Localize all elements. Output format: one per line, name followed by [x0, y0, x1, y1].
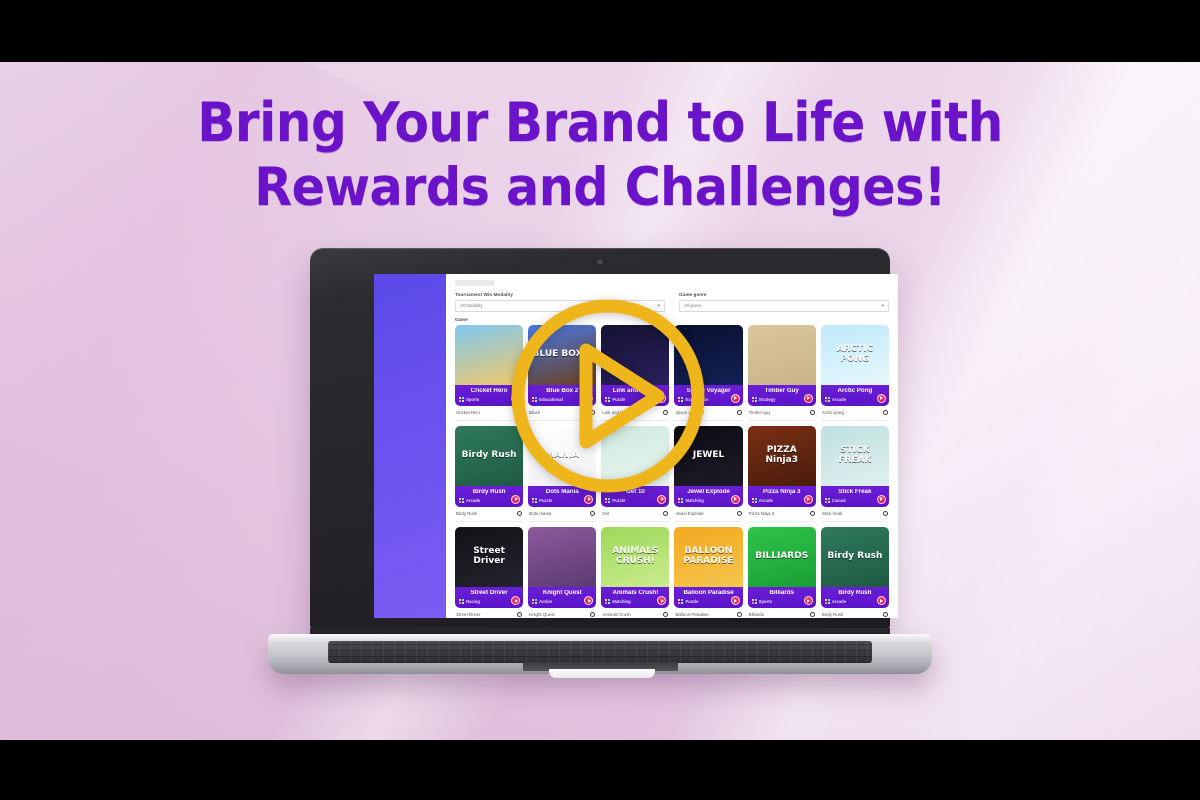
gear-icon[interactable]	[810, 511, 815, 516]
game-genre-row: Arcade	[752, 498, 812, 503]
play-circle-icon[interactable]	[731, 394, 740, 403]
game-caption-row: Arctic pong	[821, 406, 889, 421]
game-caption-row: Street Driver	[455, 608, 523, 618]
game-art-text: BALLOON PARADISE	[674, 547, 742, 566]
game-genre-label: Puzzle	[539, 498, 552, 503]
filter-label: Game genre	[679, 292, 889, 297]
game-genre-row: Sports	[752, 599, 812, 604]
genre-grid-icon	[825, 498, 830, 503]
game-thumbnail: BILLIARDS	[748, 527, 816, 587]
play-circle-icon[interactable]	[804, 596, 813, 605]
slide-canvas: Bring Your Brand to Life with Rewards an…	[0, 0, 1200, 800]
gear-icon[interactable]	[737, 612, 742, 617]
game-caption-name: Arctic pong	[822, 410, 844, 415]
game-caption-name: Street Driver	[456, 612, 481, 617]
gear-icon[interactable]	[590, 612, 595, 617]
gear-icon[interactable]	[810, 410, 815, 415]
game-card[interactable]: ARCTIC PONGArctic PongArcadeArctic pong	[821, 325, 889, 421]
game-caption-name: Birdy Rush	[822, 612, 843, 617]
game-caption-row: Dots mania	[528, 507, 596, 522]
game-title: Billiards	[752, 590, 812, 596]
play-triangle-icon	[508, 296, 708, 496]
genre-grid-icon	[825, 397, 830, 402]
game-thumbnail: BALLOON PARADISE	[674, 527, 742, 587]
game-caption-name: Knight Quest	[529, 612, 554, 617]
genre-grid-icon	[459, 599, 464, 604]
letterbox-bottom	[0, 740, 1200, 800]
game-caption-name: Timber guy	[749, 410, 771, 415]
game-title: Animals Crush!	[605, 590, 665, 596]
game-genre-row: Arcade	[825, 397, 885, 402]
headline-line-1: Bring Your Brand to Life with	[42, 95, 1158, 150]
game-card-footer: Balloon ParadisePuzzle	[674, 587, 742, 608]
gear-icon[interactable]	[517, 511, 522, 516]
game-caption-name: Jewel Explode	[675, 511, 703, 516]
letterbox-top	[0, 0, 1200, 62]
game-genre-label: Strategy	[759, 397, 776, 402]
genre-grid-icon	[825, 599, 830, 604]
play-circle-icon[interactable]	[731, 596, 740, 605]
genre-grid-icon	[605, 498, 610, 503]
game-caption-row: Get	[601, 507, 669, 522]
game-title: Street Driver	[459, 590, 519, 596]
game-genre-label: Racing	[466, 599, 480, 604]
game-thumbnail	[528, 527, 596, 587]
game-caption-name: Pizza Ninja 3	[749, 511, 775, 516]
game-genre-row: Puzzle	[532, 498, 592, 503]
game-card-footer: Street DriverRacing	[455, 587, 523, 608]
game-genre-label: Puzzle	[685, 599, 698, 604]
game-caption-row: Balloon Paradise	[674, 608, 742, 618]
play-circle-icon[interactable]	[804, 495, 813, 504]
game-title: Stick Freak	[825, 489, 885, 495]
filter-game-genre: Game genre All genre ▾	[679, 292, 889, 312]
game-card-footer: Birdy RushArcade	[821, 587, 889, 608]
play-circle-icon[interactable]	[731, 495, 740, 504]
play-circle-icon[interactable]	[511, 495, 520, 504]
genre-grid-icon	[752, 599, 757, 604]
game-caption-row: Birdy Rush	[455, 507, 523, 522]
game-art-text: Birdy Rush	[825, 552, 884, 561]
game-title: Knight Quest	[532, 590, 592, 596]
game-genre-row: Puzzle	[605, 498, 665, 503]
genre-grid-icon	[752, 397, 757, 402]
genre-grid-icon	[459, 397, 464, 402]
game-caption-name: Balloon Paradise	[675, 612, 708, 617]
game-thumbnail: ANIMALS CRUSH!	[601, 527, 669, 587]
game-card[interactable]: BALLOON PARADISEBalloon ParadisePuzzleBa…	[674, 527, 742, 618]
game-title: Timber Guy	[752, 388, 812, 394]
game-title: Balloon Paradise	[678, 590, 738, 596]
game-caption-name: Stick freak	[822, 511, 843, 516]
game-card-footer: BilliardsSports	[748, 587, 816, 608]
game-card-footer: Animals Crush!Matching	[601, 587, 669, 608]
gear-icon[interactable]	[663, 612, 668, 617]
game-caption-name: Cricket Hero	[456, 410, 480, 415]
game-caption-name: Birdy Rush	[456, 511, 477, 516]
genre-grid-icon	[459, 498, 464, 503]
game-card[interactable]: Street DriverStreet DriverRacingStreet D…	[455, 527, 523, 618]
game-genre-row: Puzzle	[678, 599, 738, 604]
modality-select-value: All Modality	[460, 303, 482, 308]
game-caption-row: Pizza Ninja 3	[748, 507, 816, 522]
game-art-text: PIZZA Ninja3	[748, 446, 816, 465]
game-title: Birdy Rush	[825, 590, 885, 596]
game-caption-row: Stick freak	[821, 507, 889, 522]
gear-icon[interactable]	[737, 511, 742, 516]
game-caption-name: Animals Crush	[602, 612, 631, 617]
game-card[interactable]: STICK FREAKStick FreakCasualStick freak	[821, 426, 889, 522]
game-thumbnail	[748, 325, 816, 385]
chevron-down-icon: ▾	[882, 303, 884, 309]
game-card-footer: Knight QuestAction	[528, 587, 596, 608]
game-genre-label: Arcade	[466, 498, 480, 503]
game-caption-row: Jewel Explode	[674, 507, 742, 522]
game-thumbnail: STICK FREAK	[821, 426, 889, 486]
game-genre-row: Arcade	[825, 599, 885, 604]
game-thumbnail: Street Driver	[455, 527, 523, 587]
breadcrumb-chip	[455, 280, 495, 286]
headline-line-2: Rewards and Challenges!	[42, 161, 1158, 215]
game-title: Pizza Ninja 3	[752, 489, 812, 495]
gear-icon[interactable]	[810, 612, 815, 617]
game-genre-label: Sports	[466, 397, 479, 402]
gear-icon[interactable]	[883, 612, 888, 617]
game-caption-row: Billiards	[748, 608, 816, 618]
game-genre-row: Matching	[678, 498, 738, 503]
game-art-text: ARCTIC PONG	[821, 345, 889, 364]
game-thumbnail: PIZZA Ninja3	[748, 426, 816, 486]
game-genre-label: Matching	[685, 498, 703, 503]
laptop-keyboard	[328, 641, 872, 663]
game-art-text: ANIMALS CRUSH!	[601, 547, 669, 566]
game-caption-name: Get	[602, 511, 609, 516]
game-caption-row: Birdy Rush	[821, 608, 889, 618]
genre-grid-icon	[678, 599, 683, 604]
genre-grid-icon	[678, 498, 683, 503]
game-card[interactable]: Knight QuestActionKnight Quest	[528, 527, 596, 618]
game-thumbnail: ARCTIC PONG	[821, 325, 889, 385]
play-circle-icon[interactable]	[804, 394, 813, 403]
genre-grid-icon	[532, 599, 537, 604]
game-card-footer: Pizza Ninja 3Arcade	[748, 486, 816, 507]
game-genre-row: Strategy	[752, 397, 812, 402]
game-thumbnail: Birdy Rush	[821, 527, 889, 587]
game-card[interactable]: PIZZA Ninja3Pizza Ninja 3ArcadePizza Nin…	[748, 426, 816, 522]
gear-icon[interactable]	[883, 410, 888, 415]
genre-grid-icon	[752, 498, 757, 503]
gear-icon[interactable]	[883, 511, 888, 516]
genre-grid-icon	[532, 498, 537, 503]
genre-grid-icon	[605, 599, 610, 604]
game-art-text: Street Driver	[455, 547, 523, 566]
game-caption-row: Knight Quest	[528, 608, 596, 618]
game-art-text: BILLIARDS	[753, 552, 810, 561]
game-art-text: STICK FREAK	[821, 446, 889, 465]
game-card-footer: Stick FreakCasual	[821, 486, 889, 507]
game-caption-name: Billiards	[749, 612, 764, 617]
game-card[interactable]: Timber GuyStrategyTimber guy	[748, 325, 816, 421]
play-circle-icon[interactable]	[877, 495, 886, 504]
gear-icon[interactable]	[590, 511, 595, 516]
game-card[interactable]: Birdy RushBirdy RushArcadeBirdy Rush	[821, 527, 889, 618]
play-circle-icon[interactable]	[877, 394, 886, 403]
game-genre-label: Puzzle	[612, 498, 625, 503]
game-card-footer: Arctic PongArcade	[821, 385, 889, 406]
game-genre-row: Action	[532, 599, 592, 604]
game-caption-row: Animals Crush	[601, 608, 669, 618]
game-genre-row: Arcade	[459, 498, 519, 503]
game-genre-row: Racing	[459, 599, 519, 604]
game-genre-label: Arcade	[832, 599, 846, 604]
game-genre-row: Matching	[605, 599, 665, 604]
game-title: Arctic Pong	[825, 388, 885, 394]
game-genre-label: Arcade	[832, 397, 846, 402]
game-genre-label: Action	[539, 599, 552, 604]
laptop-front-notch	[549, 669, 655, 678]
gear-icon[interactable]	[737, 410, 742, 415]
game-genre-label: Casual	[832, 498, 846, 503]
video-play-button[interactable]	[508, 296, 708, 496]
game-card[interactable]: ANIMALS CRUSH!Animals Crush!MatchingAnim…	[601, 527, 669, 618]
game-genre-label: Sports	[759, 599, 772, 604]
game-genre-label: Matching	[612, 599, 630, 604]
laptop-base-lip	[268, 634, 932, 641]
genre-select[interactable]: All genre ▾	[679, 300, 889, 312]
gear-icon[interactable]	[517, 612, 522, 617]
gear-icon[interactable]	[663, 511, 668, 516]
app-sidebar[interactable]	[374, 274, 446, 618]
page-title: Bring Your Brand to Life with Rewards an…	[0, 95, 1200, 215]
game-card-footer: Timber GuyStrategy	[748, 385, 816, 406]
game-caption-row: Timber guy	[748, 406, 816, 421]
game-genre-label: Arcade	[759, 498, 773, 503]
game-caption-name: Dots mania	[529, 511, 551, 516]
game-genre-row: Casual	[825, 498, 885, 503]
game-card[interactable]: BILLIARDSBilliardsSportsBilliards	[748, 527, 816, 618]
